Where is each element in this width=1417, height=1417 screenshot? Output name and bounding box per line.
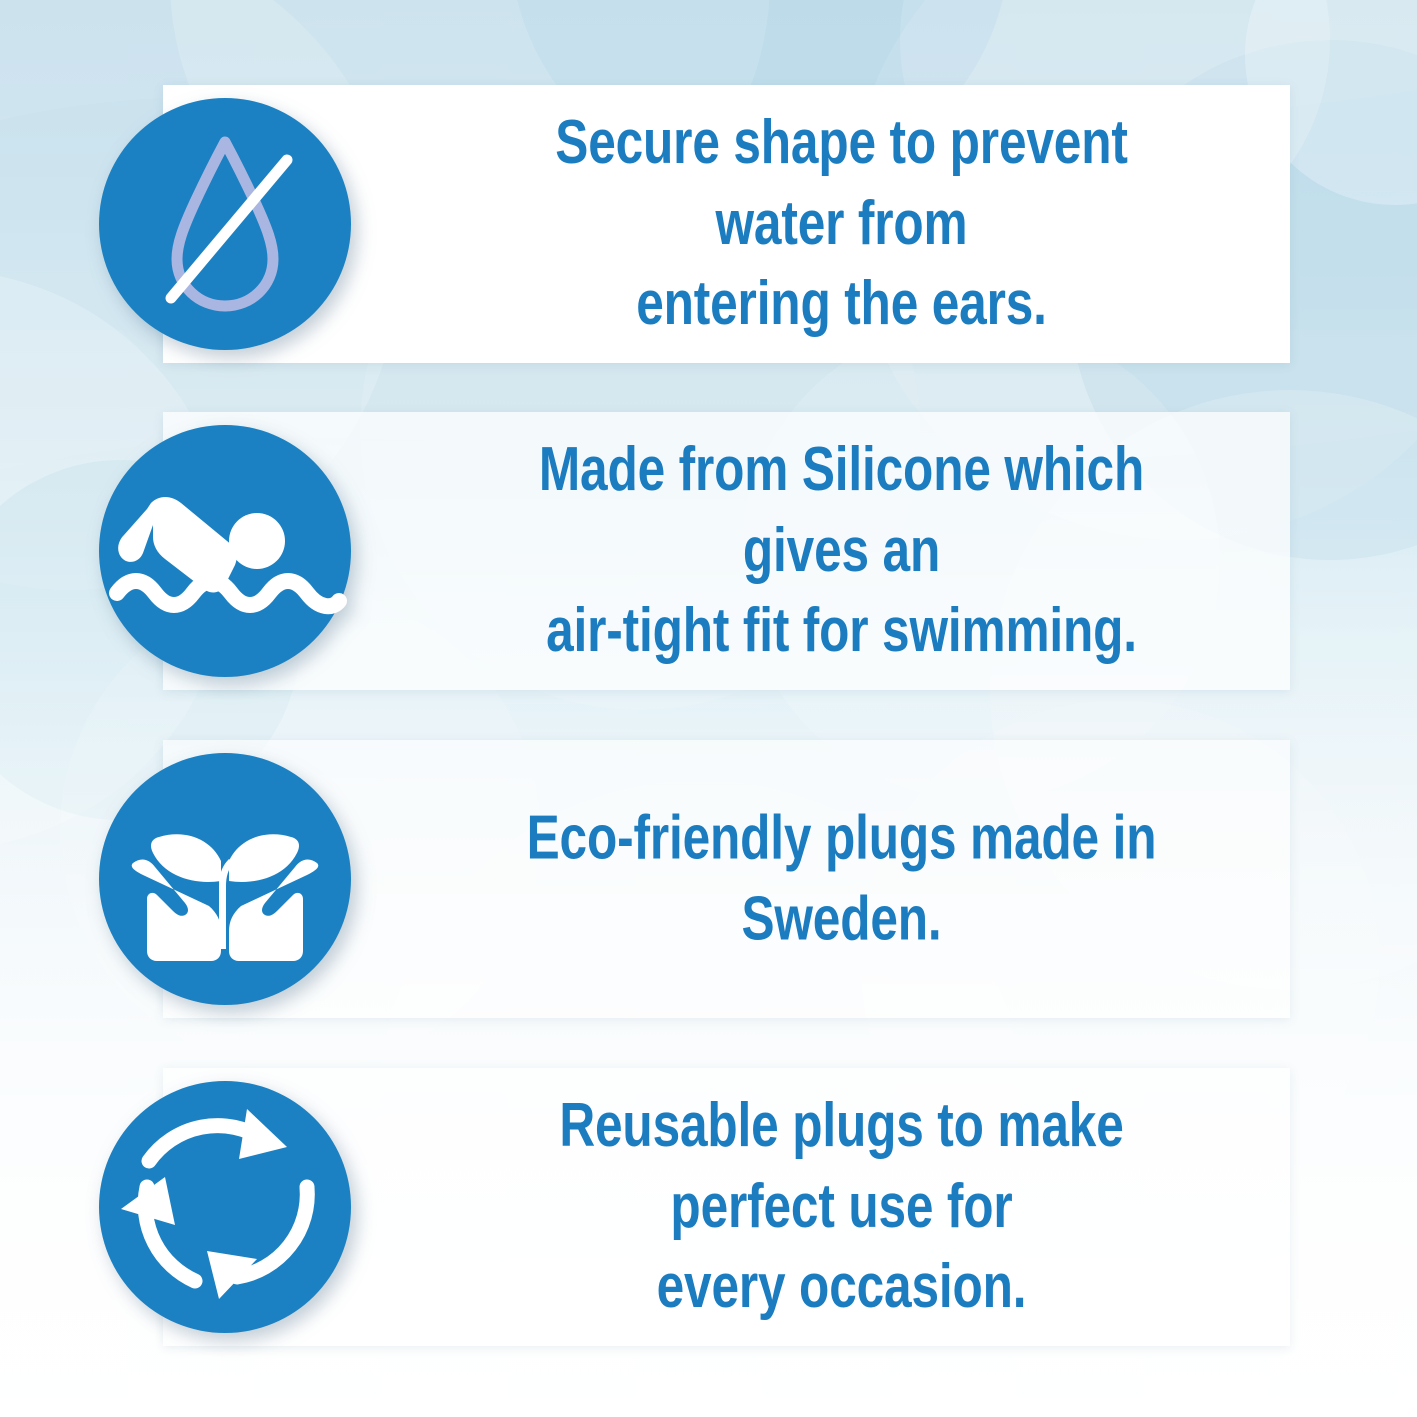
feature-caption-1: Secure shape to prevent water from enter… (399, 103, 1284, 345)
feature-caption-3: Eco-friendly plugs made in Sweden. (399, 798, 1284, 959)
infographic-canvas: Secure shape to prevent water from enter… (0, 0, 1417, 1417)
caption-line: every occasion. (488, 1247, 1196, 1328)
caption-line: Made from Silicone which gives an (488, 430, 1196, 591)
caption-line: air-tight fit for swimming. (488, 591, 1196, 672)
feature-caption-2: Made from Silicone which gives an air-ti… (399, 430, 1284, 672)
caption-line: Secure shape to prevent water from (488, 103, 1196, 264)
arrowhead-top-right (239, 1109, 287, 1159)
swimmer-head (229, 513, 285, 569)
caption-line: Reusable plugs to make perfect use for (488, 1086, 1196, 1247)
no-water-droplet-icon (99, 98, 351, 350)
water-waves (117, 581, 339, 606)
hands-holding-sprout-icon (99, 753, 351, 1005)
feature-row-3: Eco-friendly plugs made in Sweden. (163, 740, 1290, 1018)
feature-row-4: Reusable plugs to make perfect use for e… (163, 1068, 1290, 1346)
caption-line: entering the ears. (488, 264, 1196, 345)
feature-row-2: Made from Silicone which gives an air-ti… (163, 412, 1290, 690)
caption-line: Eco-friendly plugs made in Sweden. (488, 798, 1196, 959)
recycle-arrows-icon (99, 1081, 351, 1333)
swimmer-icon (99, 425, 351, 677)
feature-caption-4: Reusable plugs to make perfect use for e… (399, 1086, 1284, 1328)
feature-row-1: Secure shape to prevent water from enter… (163, 85, 1290, 363)
